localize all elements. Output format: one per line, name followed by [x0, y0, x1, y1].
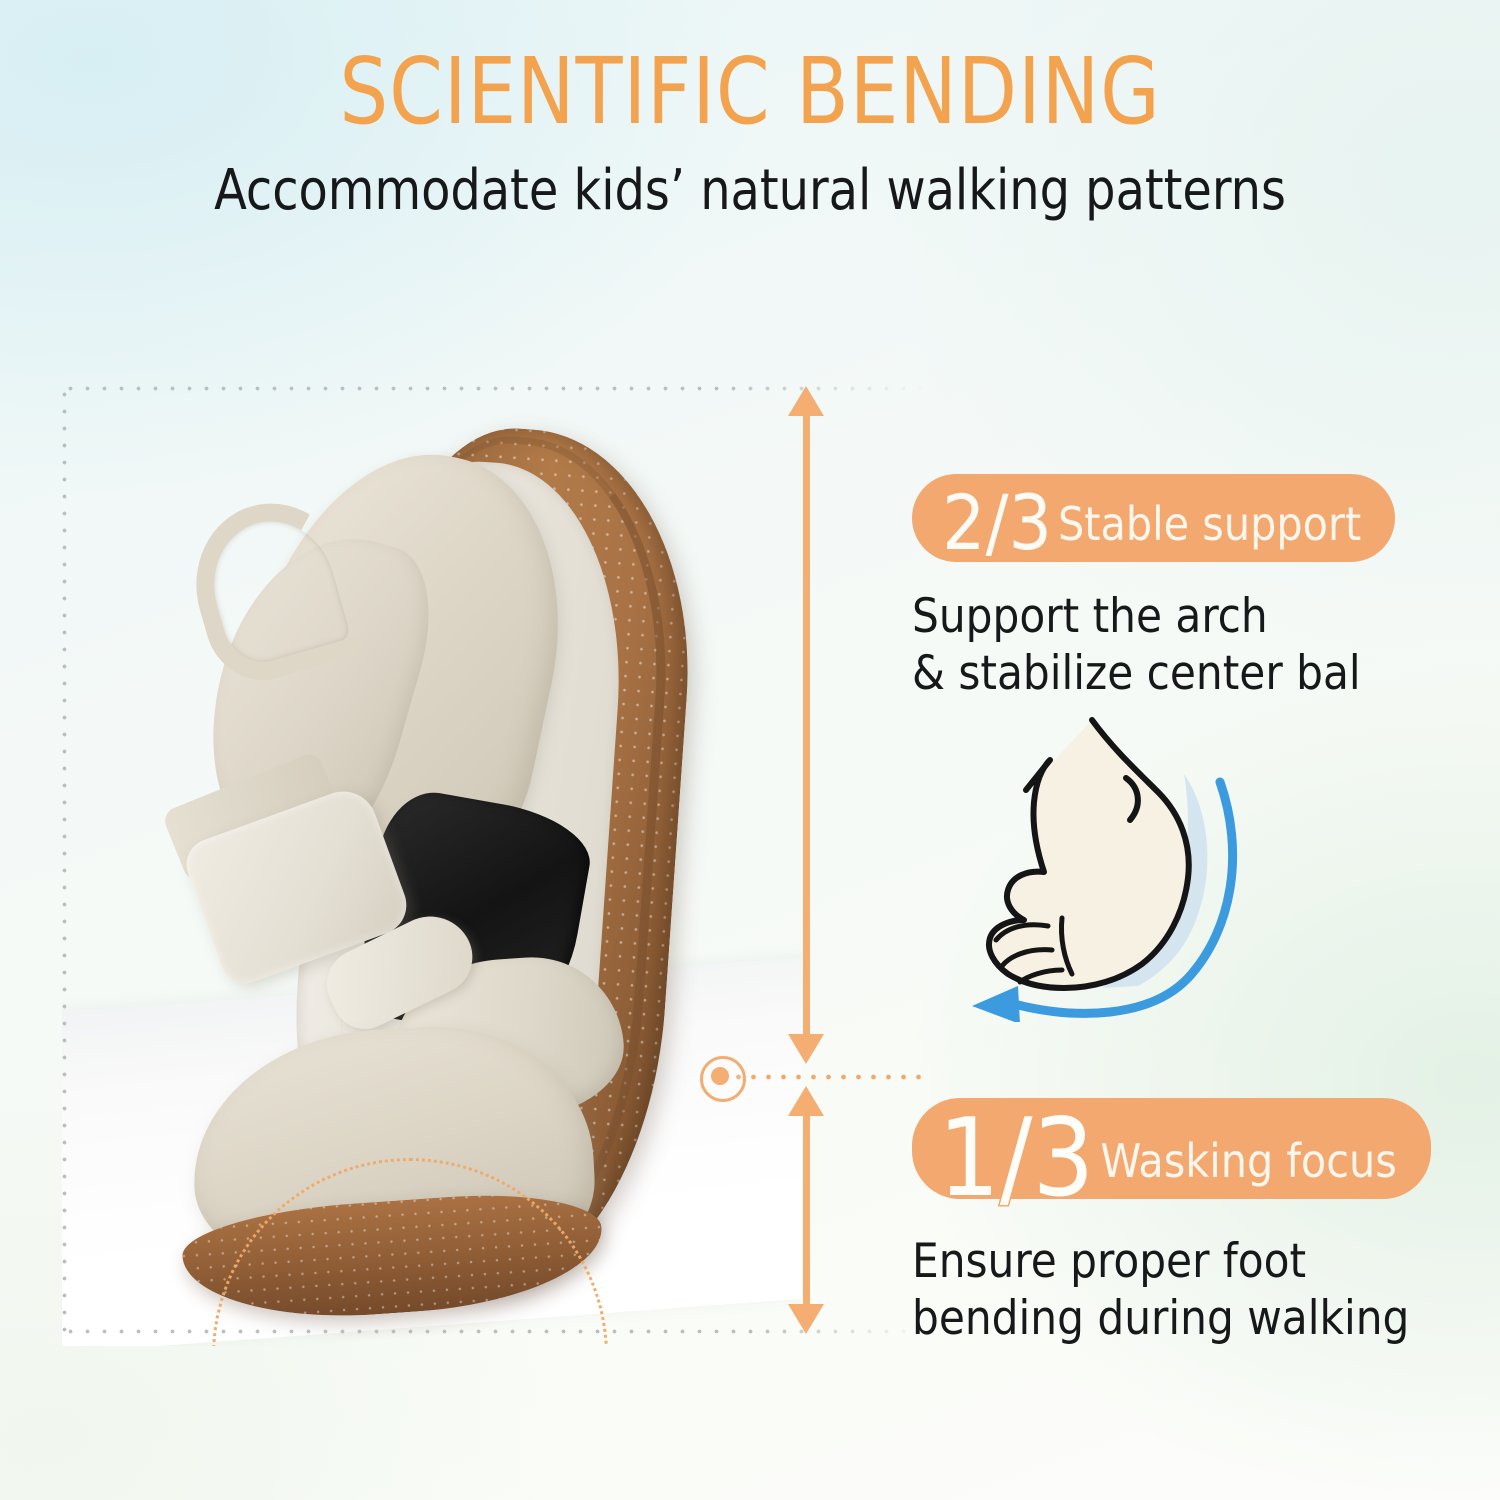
- measurement-arrows: [785, 386, 827, 1334]
- bend-point-dotted-line: [716, 1074, 930, 1080]
- callout-stable-support: 2/3Stable support Support the arch & sta…: [912, 474, 1452, 703]
- callout-wasking-focus: 1/3Wasking focus Ensure proper foot bend…: [912, 1098, 1452, 1348]
- page-subtitle: Accommodate kids’ natural walking patter…: [38, 163, 1463, 219]
- description-stable-support: Support the arch & stabilize center bal: [912, 588, 1452, 703]
- fraction-two-thirds: 2/3: [942, 478, 1052, 567]
- arrowhead-down-top: [788, 1034, 824, 1064]
- product-photo: [62, 386, 802, 1346]
- foot-outline: [989, 720, 1189, 988]
- infographic-canvas: SCIENTIFIC BENDING Accommodate kids’ nat…: [0, 0, 1500, 1500]
- badge-stable-support: 2/3Stable support: [912, 474, 1395, 562]
- foot-svg: [952, 712, 1282, 1022]
- badge-label-wasking-focus: Wasking focus: [1100, 1134, 1396, 1188]
- badge-label-stable-support: Stable support: [1058, 497, 1361, 551]
- page-title: SCIENTIFIC BENDING: [53, 46, 1448, 138]
- fraction-one-third: 1/3: [938, 1096, 1094, 1221]
- arrowhead-down-bottom: [788, 1304, 824, 1334]
- arrowhead-up-top: [788, 386, 824, 416]
- badge-wasking-focus: 1/3Wasking focus: [912, 1098, 1431, 1199]
- bending-foot-illustration: [952, 712, 1282, 1022]
- one-third-measure-arrow: [803, 1112, 810, 1308]
- description-wasking-focus: Ensure proper foot bending during walkin…: [912, 1233, 1452, 1348]
- bend-point-marker: [700, 1056, 746, 1102]
- two-thirds-measure-arrow: [803, 408, 810, 1058]
- bending-arrowhead: [972, 986, 1020, 1022]
- arrowhead-up-bottom: [788, 1086, 824, 1116]
